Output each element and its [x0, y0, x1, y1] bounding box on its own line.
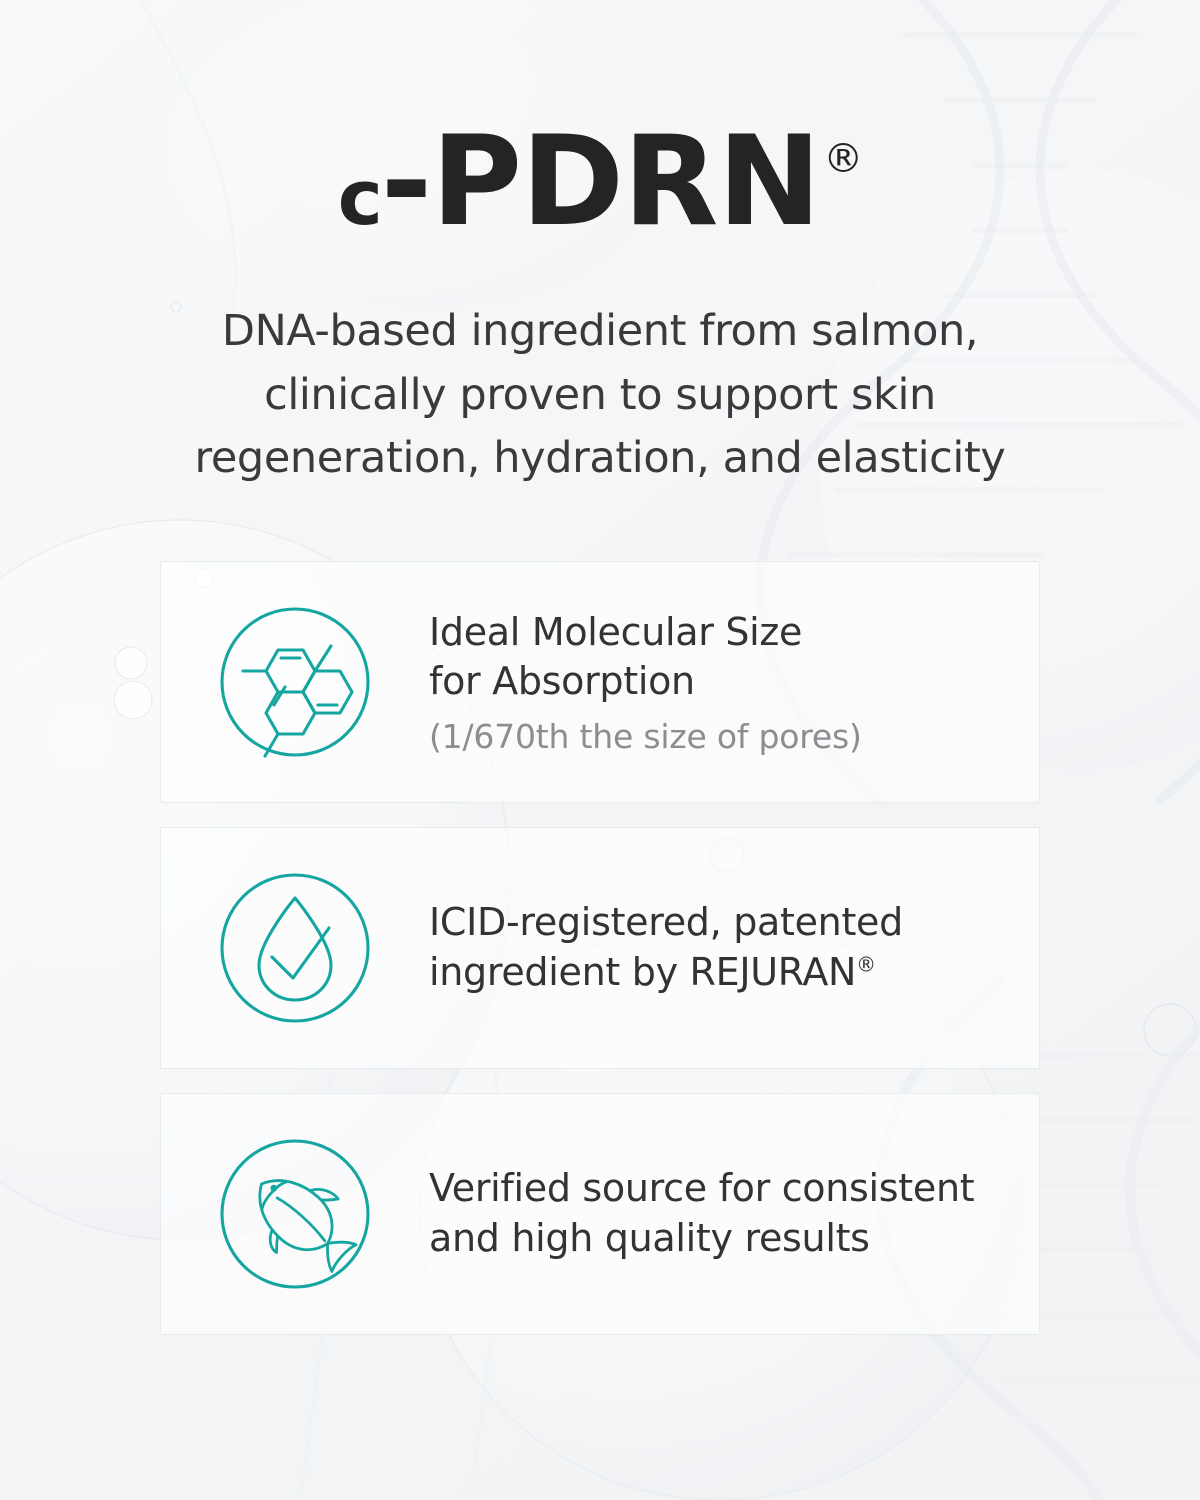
feature-title-line-2-text: ingredient by REJURAN: [429, 950, 856, 994]
molecule-icon: [219, 606, 371, 758]
feature-card: Ideal Molecular Size for Absorption (1/6…: [160, 561, 1040, 803]
feature-card-text: Verified source for consistent and high …: [429, 1164, 974, 1263]
registered-trademark-icon: ®: [856, 952, 876, 976]
feature-card-text: ICID-registered, patented ingredient by …: [429, 898, 903, 997]
feature-title-line-1: ICID-registered, patented: [429, 898, 903, 947]
water-drop-check-icon: [219, 872, 371, 1024]
feature-card: Verified source for consistent and high …: [160, 1093, 1040, 1335]
subtitle-line-1: DNA-based ingredient from salmon,: [150, 300, 1050, 364]
subtitle-line-3: regeneration, hydration, and elasticity: [150, 427, 1050, 491]
page-title: c-PDRN®: [338, 120, 863, 244]
subtitle: DNA-based ingredient from salmon, clinic…: [150, 300, 1050, 491]
feature-card-text: Ideal Molecular Size for Absorption (1/6…: [429, 608, 862, 756]
feature-title-line-1: Ideal Molecular Size: [429, 608, 862, 657]
fish-icon: [219, 1138, 371, 1290]
brand-main-text: -PDRN: [381, 120, 821, 244]
feature-note: (1/670th the size of pores): [429, 717, 862, 756]
product-infographic: c-PDRN® DNA-based ingredient from salmon…: [0, 0, 1200, 1500]
feature-title-line-1: Verified source for consistent: [429, 1164, 974, 1213]
subtitle-line-2: clinically proven to support skin: [150, 364, 1050, 428]
registered-trademark-icon: ®: [823, 139, 862, 179]
feature-title-line-2: and high quality results: [429, 1214, 974, 1263]
feature-card-list: Ideal Molecular Size for Absorption (1/6…: [160, 561, 1040, 1335]
feature-title-line-2: for Absorption: [429, 657, 862, 706]
brand-lead-letter: c: [338, 160, 381, 236]
feature-card: ICID-registered, patented ingredient by …: [160, 827, 1040, 1069]
feature-title-line-2: ingredient by REJURAN®: [429, 948, 903, 997]
